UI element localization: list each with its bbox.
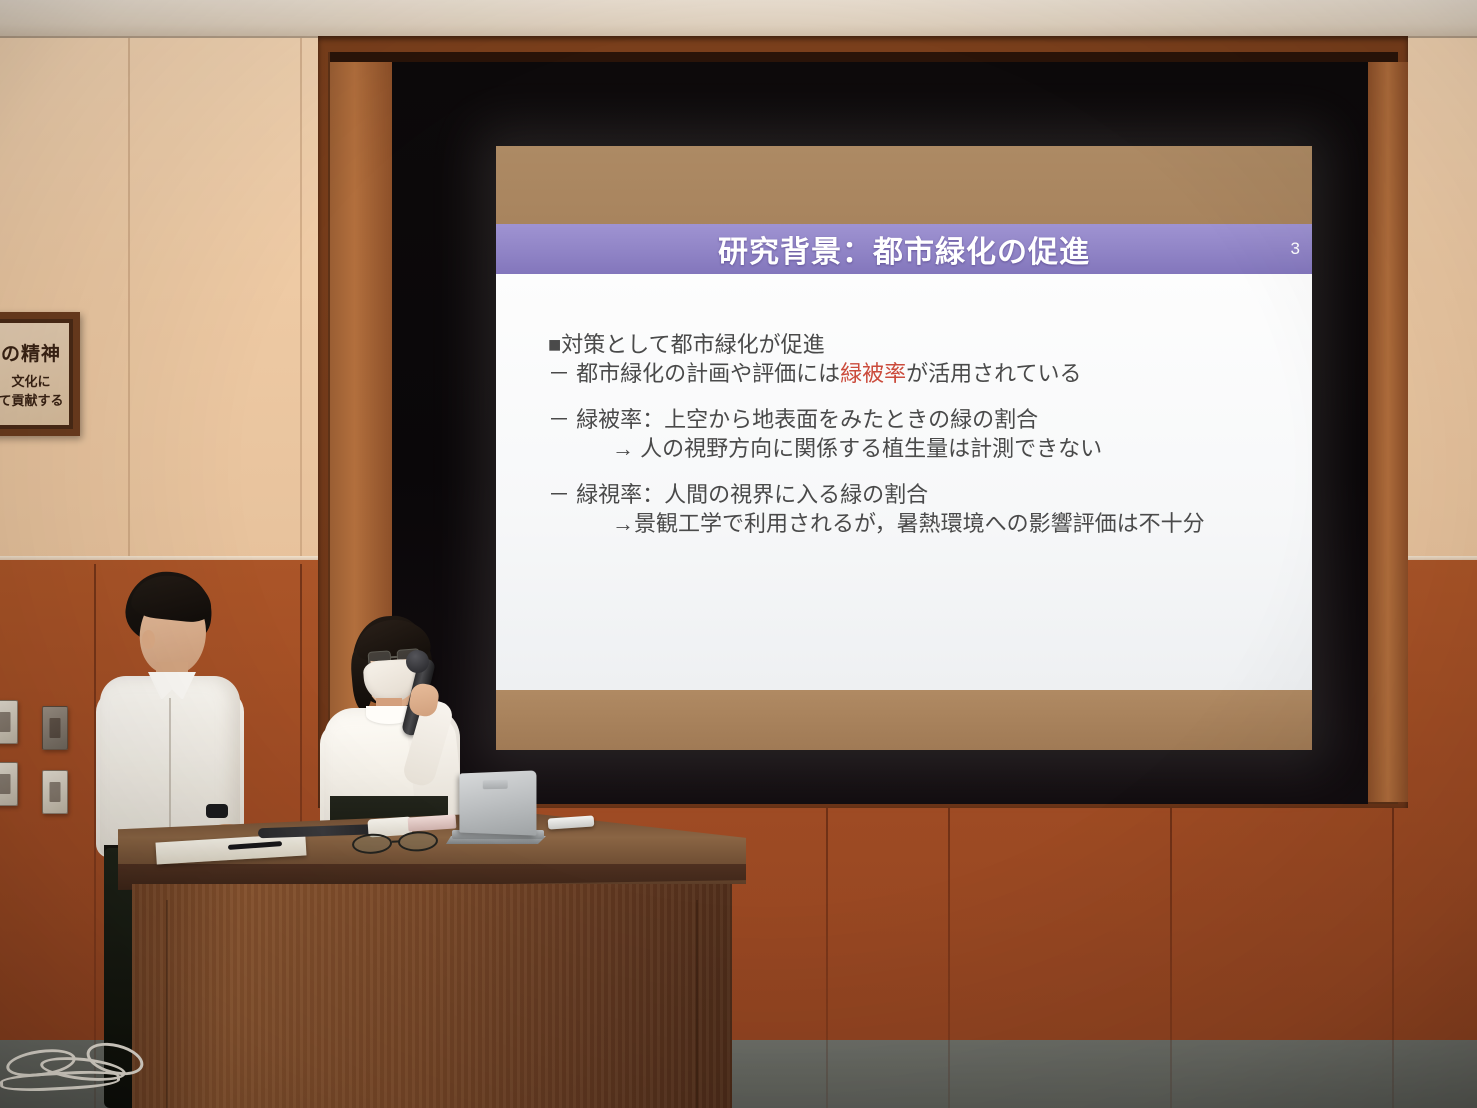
slide-title-bar: 研究背景：都市緑化の促進 3 — [496, 224, 1312, 274]
slide-line-6: →景観工学で利用されるが，暑熱環境への影響評価は不十分 — [548, 509, 1288, 538]
slide-line-1: ■対策として都市緑化が促進 — [548, 330, 1288, 359]
plaque-line-1: の精神 — [0, 339, 66, 366]
plaque-line-2: 文化に — [0, 371, 66, 390]
presentation-room-photo: の精神 文化に て貢献する 研究背景：都市緑化の促進 3 ■対策として都市緑化が… — [0, 0, 1477, 1108]
panel-seam — [1392, 806, 1394, 1108]
panel-seam — [948, 806, 950, 1108]
wall-outlet[interactable] — [42, 706, 68, 750]
slide-bullet-square: ■ — [548, 332, 561, 357]
slide-line-4: → 人の視野方向に関係する植生量は計測できない — [548, 434, 1288, 463]
wall-outlet[interactable] — [42, 770, 68, 814]
standing-presenter-ear — [142, 630, 155, 649]
slide-line-3: － 緑被率：上空から地表面をみたときの緑の割合 — [548, 405, 1288, 434]
wall-plaque: の精神 文化に て貢献する — [0, 312, 80, 436]
wall-seam — [128, 38, 130, 568]
wall-seam — [300, 38, 302, 568]
wall-outlet[interactable] — [0, 700, 18, 744]
slide-top-band — [496, 146, 1312, 224]
slide-line-2: － 都市緑化の計画や評価には緑被率が活用されている — [548, 359, 1288, 388]
glasses-lens-left — [352, 833, 393, 855]
slide-body: ■対策として都市緑化が促進 － 都市緑化の計画や評価には緑被率が活用されている … — [496, 274, 1312, 690]
slide-title: 研究背景：都市緑化の促進 — [718, 227, 1090, 271]
podium-wood-grain — [132, 884, 732, 1108]
projected-slide: 研究背景：都市緑化の促進 3 ■対策として都市緑化が促進 － 都市緑化の計画や評… — [496, 146, 1312, 750]
panel-seam — [1170, 806, 1172, 1108]
plaque-line-3: て貢献する — [0, 390, 66, 409]
ceiling-band — [0, 0, 1477, 40]
laptop[interactable] — [459, 770, 536, 835]
slide-bottom-band — [496, 690, 1312, 750]
standing-presenter-shirt-placket — [169, 698, 171, 848]
slide-line-1-text: 対策として都市緑化が促進 — [561, 332, 824, 357]
slide-line-2-pre: － 都市緑化の計画や評価には — [548, 361, 840, 386]
slide-line-5: － 緑視率：人間の視界に入る緑の割合 — [548, 480, 1288, 509]
alcove-wood-right — [1368, 62, 1408, 802]
slide-page-number: 3 — [1291, 239, 1300, 259]
standing-presenter-wristwatch — [206, 804, 228, 818]
panel-seam — [826, 806, 828, 1108]
slide-line-2-post: が活用されている — [906, 361, 1081, 386]
wall-outlet[interactable] — [0, 762, 18, 806]
podium-body — [132, 884, 732, 1108]
slide-line-2-highlight: 緑被率 — [840, 361, 906, 386]
glasses-lens-right — [397, 830, 438, 852]
